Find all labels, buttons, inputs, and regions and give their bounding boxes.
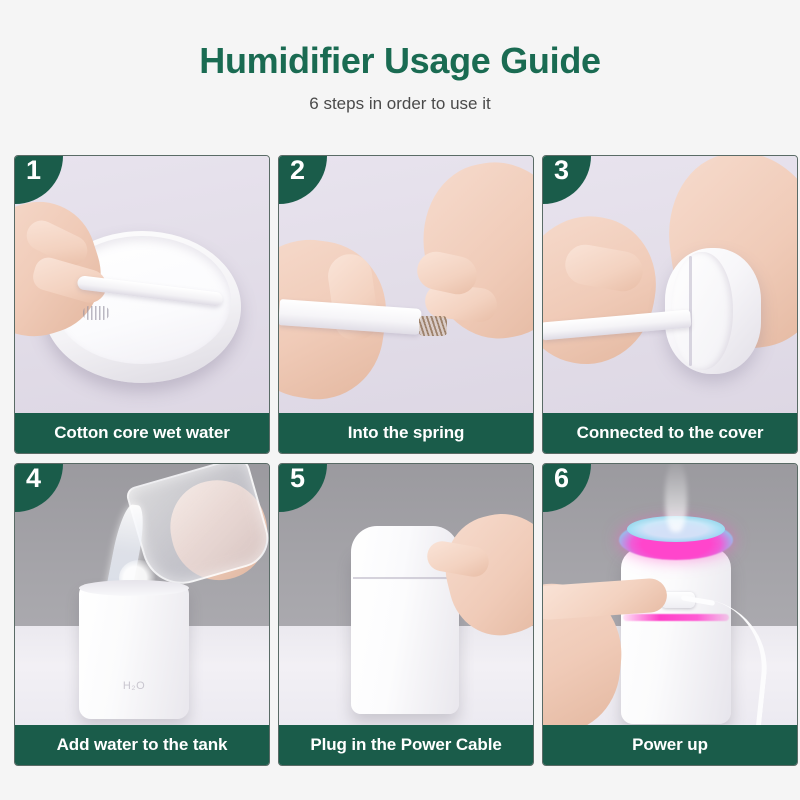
step-caption-3: Connected to the cover xyxy=(543,413,797,453)
step-caption-5: Plug in the Power Cable xyxy=(279,725,533,765)
step-number: 6 xyxy=(554,465,569,492)
header: Humidifier Usage Guide 6 steps in order … xyxy=(0,0,800,114)
step-photo-3: 3 xyxy=(543,156,797,413)
step-photo-1: 1 xyxy=(15,156,269,413)
page-title: Humidifier Usage Guide xyxy=(0,40,800,81)
step-photo-6: 6 xyxy=(543,464,797,725)
step-card-6[interactable]: 6 Power up xyxy=(542,463,798,766)
steps-grid: 1 Cotton core wet water 2 Into the sprin… xyxy=(14,155,798,766)
spring-icon xyxy=(419,316,447,336)
step-caption-4: Add water to the tank xyxy=(15,725,269,765)
step-number: 4 xyxy=(26,465,41,492)
step-photo-4: H₂O 4 xyxy=(15,464,269,725)
step-card-3[interactable]: 3 Connected to the cover xyxy=(542,155,798,454)
water-tank xyxy=(79,584,189,719)
step-card-1[interactable]: 1 Cotton core wet water xyxy=(14,155,270,454)
step-number: 3 xyxy=(554,157,569,184)
mist-plume xyxy=(665,464,687,532)
step-card-4[interactable]: H₂O 4 Add water to the tank xyxy=(14,463,270,766)
humidifier-seam xyxy=(353,577,457,579)
infographic-page: Humidifier Usage Guide 6 steps in order … xyxy=(0,0,800,800)
spring-icon xyxy=(83,306,109,320)
water-tank-rim xyxy=(79,580,189,596)
step-photo-5: 5 xyxy=(279,464,533,725)
step-caption-6: Power up xyxy=(543,725,797,765)
step-number: 1 xyxy=(26,157,41,184)
step-caption-2: Into the spring xyxy=(279,413,533,453)
led-glow-strip xyxy=(623,614,729,621)
step-number: 5 xyxy=(290,465,305,492)
tank-label: H₂O xyxy=(79,680,189,692)
step-card-2[interactable]: 2 Into the spring xyxy=(278,155,534,454)
step-photo-2: 2 xyxy=(279,156,533,413)
step-card-5[interactable]: 5 Plug in the Power Cable xyxy=(278,463,534,766)
step-caption-1: Cotton core wet water xyxy=(15,413,269,453)
page-subtitle: 6 steps in order to use it xyxy=(0,94,800,114)
step-number: 2 xyxy=(290,157,305,184)
